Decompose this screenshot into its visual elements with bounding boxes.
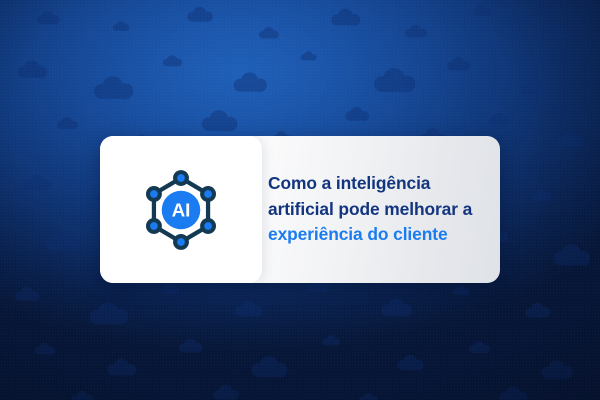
headline-line-1: Como a inteligência [268,171,490,197]
banner-canvas: AI Como a inteligência artificial pode m… [0,0,600,400]
page-title: Como a inteligência artificial pode melh… [268,171,500,248]
ai-icon-label: AI [172,199,191,220]
ai-network-hexagon-icon: AI [140,169,222,251]
icon-panel: AI [100,136,262,283]
headline-line-2: artificial pode melhorar a [268,197,490,223]
headline-line-3: experiência do cliente [268,222,490,248]
content-card: AI Como a inteligência artificial pode m… [100,136,500,283]
headline-block: Como a inteligência artificial pode melh… [268,136,500,283]
